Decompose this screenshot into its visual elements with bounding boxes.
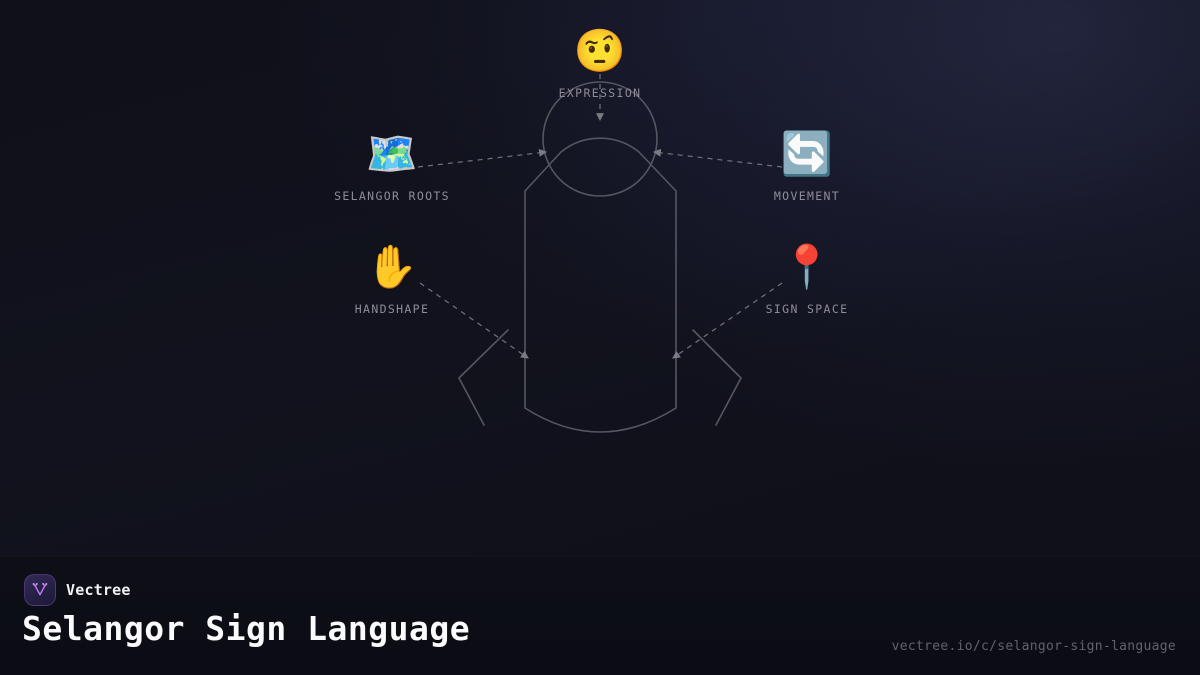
vectree-v-tree-icon [24,574,56,606]
figure-left-arm [459,330,508,425]
concept-node-label: MOVEMENT [774,189,840,203]
concept-node-label: SELANGOR ROOTS [334,189,450,203]
brand-row[interactable]: Vectree [24,574,131,606]
raised-hand-emoji: ✋ [366,244,418,290]
face-with-raised-eyebrow-emoji: 🤨 [574,28,626,74]
concept-node-label: HANDSHAPE [355,302,429,316]
brand-name: Vectree [66,581,131,599]
site-url: vectree.io/c/selangor-sign-language [892,639,1176,654]
concept-node-label: EXPRESSION [559,86,642,100]
diagram-canvas: 🤨 EXPRESSION 🗺️ SELANGOR ROOTS 🔄 MOVEMEN… [0,0,1200,556]
concept-node-sign-space[interactable]: 📍 SIGN SPACE [707,244,907,316]
figure-right-arm [693,330,741,425]
page-title: Selangor Sign Language [22,609,470,648]
concept-node-label: SIGN SPACE [766,302,849,316]
concept-node-handshape[interactable]: ✋ HANDSHAPE [292,244,492,316]
concept-node-selangor-roots[interactable]: 🗺️ SELANGOR ROOTS [292,131,492,203]
counterclockwise-arrows-emoji: 🔄 [781,131,833,177]
figure-torso [525,138,676,432]
poster-stage: 🤨 EXPRESSION 🗺️ SELANGOR ROOTS 🔄 MOVEMEN… [0,0,1200,675]
concept-node-expression[interactable]: 🤨 EXPRESSION [500,28,700,100]
world-map-emoji: 🗺️ [366,131,418,177]
poster-footer: Vectree Selangor Sign Language vectree.i… [0,556,1200,675]
round-pushpin-emoji: 📍 [781,244,833,290]
concept-node-movement[interactable]: 🔄 MOVEMENT [707,131,907,203]
